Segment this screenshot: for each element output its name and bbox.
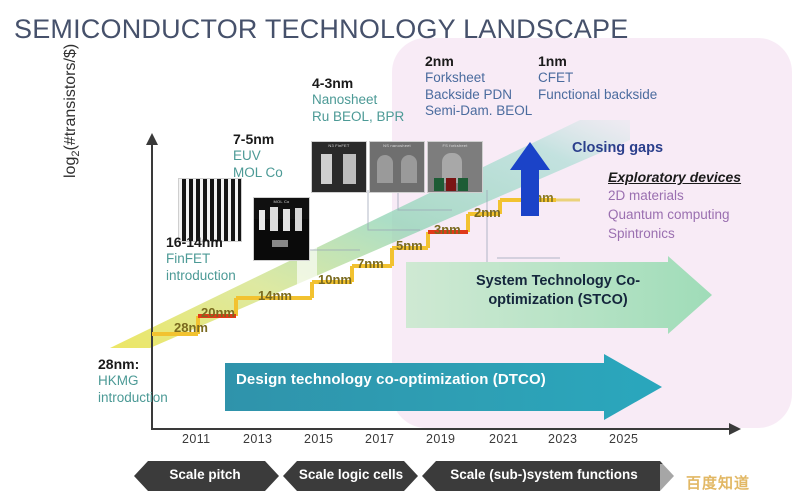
callout-2nm-line-1: Backside PDN [425, 87, 532, 103]
callout-28nm-line-1: introduction [98, 390, 168, 406]
tem-caption-2: NS nanosheet [370, 143, 424, 148]
callout-2nm-line-2: Semi-Dam. BEOL [425, 103, 532, 119]
y-axis-label: log2(#transistors/$) [62, 0, 82, 178]
tem-caption-3: FS forksheet [428, 143, 482, 148]
callout-4-3nm-line-0: Nanosheet [312, 92, 404, 108]
closing-gaps-arrow-icon [508, 140, 552, 218]
y-axis-label-suffix: (#transistors/$) [62, 44, 79, 151]
callout-7-5nm-line-0: EUV [233, 148, 283, 164]
x-tick-2019: 2019 [426, 432, 455, 446]
x-tick-2023: 2023 [548, 432, 577, 446]
page-title: SEMICONDUCTOR TECHNOLOGY LANDSCAPE [14, 14, 628, 45]
y-axis-label-prefix: log [62, 157, 79, 178]
dtco-label: Design technology co-optimization (DTCO) [236, 371, 626, 388]
x-axis-arrowhead [729, 423, 741, 435]
exploratory-item-0: 2D materials [608, 187, 741, 206]
callout-28nm: 28nm: HKMG introduction [98, 356, 168, 406]
watermark: 百度知道 [686, 472, 750, 493]
callout-4-3nm-head: 4-3nm [312, 75, 404, 92]
callout-7-5nm-head: 7-5nm [233, 131, 283, 148]
x-tick-2011: 2011 [182, 432, 210, 446]
diagram-canvas: SEMICONDUCTOR TECHNOLOGY LANDSCAPE log2(… [0, 0, 800, 504]
node-label-7nm: 7nm [357, 256, 384, 271]
callout-28nm-line-0: HKMG [98, 373, 168, 389]
scale-system-functions-label: Scale (sub-)system functions [424, 467, 664, 482]
x-tick-2025: 2025 [609, 432, 638, 446]
tem-image-finfet [178, 178, 242, 242]
tem-image-mol-co: MOL Co [253, 197, 310, 261]
callout-1nm-line-0: CFET [538, 70, 657, 86]
tem-caption-1: N3 FinFET [312, 143, 366, 148]
node-label-3nm: 3nm [434, 222, 461, 237]
callout-7-5nm-line-1: MOL Co [233, 165, 283, 181]
tem-image-nanosheet-b: NS nanosheet [369, 141, 425, 193]
stco-label-line-0: System Technology Co- [476, 273, 640, 289]
callout-16-14nm-line-1: introduction [166, 268, 236, 284]
stco-label: System Technology Co- optimization (STCO… [430, 272, 686, 310]
node-label-14nm: 14nm [258, 288, 292, 303]
callout-4-3nm-line-1: Ru BEOL, BPR [312, 109, 404, 125]
callout-16-14nm-line-0: FinFET [166, 251, 236, 267]
callout-2nm-head: 2nm [425, 53, 532, 70]
node-label-28nm: 28nm [174, 320, 208, 335]
exploratory-item-1: Quantum computing [608, 206, 741, 225]
exploratory-item-2: Spintronics [608, 225, 741, 244]
callout-28nm-head: 28nm: [98, 356, 168, 373]
node-label-5nm: 5nm [396, 238, 423, 253]
x-tick-2013: 2013 [243, 432, 272, 446]
x-tick-2021: 2021 [489, 432, 518, 446]
tem-image-nanosheet-a: N3 FinFET [311, 141, 367, 193]
node-label-2nm: 2nm [474, 205, 501, 220]
callout-1nm-line-1: Functional backside [538, 87, 657, 103]
closing-gaps-label: Closing gaps [572, 140, 663, 156]
callout-2nm-line-0: Forksheet [425, 70, 532, 86]
exploratory-devices-block: Exploratory devices 2D materials Quantum… [608, 168, 741, 243]
x-tick-2017: 2017 [365, 432, 394, 446]
callout-1nm: 1nm CFET Functional backside [538, 53, 657, 103]
callout-1nm-head: 1nm [538, 53, 657, 70]
callout-16-14nm-head: 16-14nm [166, 234, 236, 251]
callout-7-5nm: 7-5nm EUV MOL Co [233, 131, 283, 181]
x-tick-2015: 2015 [304, 432, 333, 446]
x-axis [151, 428, 731, 430]
y-axis-label-sub: 2 [70, 151, 82, 157]
stco-label-line-1: optimization (STCO) [488, 292, 627, 308]
y-axis-arrowhead [146, 133, 158, 145]
callout-4-3nm: 4-3nm Nanosheet Ru BEOL, BPR [312, 75, 404, 125]
scale-logic-cells-label: Scale logic cells [283, 467, 419, 482]
callout-16-14nm: 16-14nm FinFET introduction [166, 234, 236, 284]
exploratory-devices-header: Exploratory devices [608, 168, 741, 187]
tem-caption-0: MOL Co [254, 199, 309, 204]
tem-image-forksheet: FS forksheet [427, 141, 483, 193]
node-label-20nm: 20nm [201, 305, 235, 320]
scale-pitch-label: Scale pitch [140, 467, 270, 482]
node-label-10nm: 10nm [318, 272, 352, 287]
callout-2nm: 2nm Forksheet Backside PDN Semi-Dam. BEO… [425, 53, 532, 119]
